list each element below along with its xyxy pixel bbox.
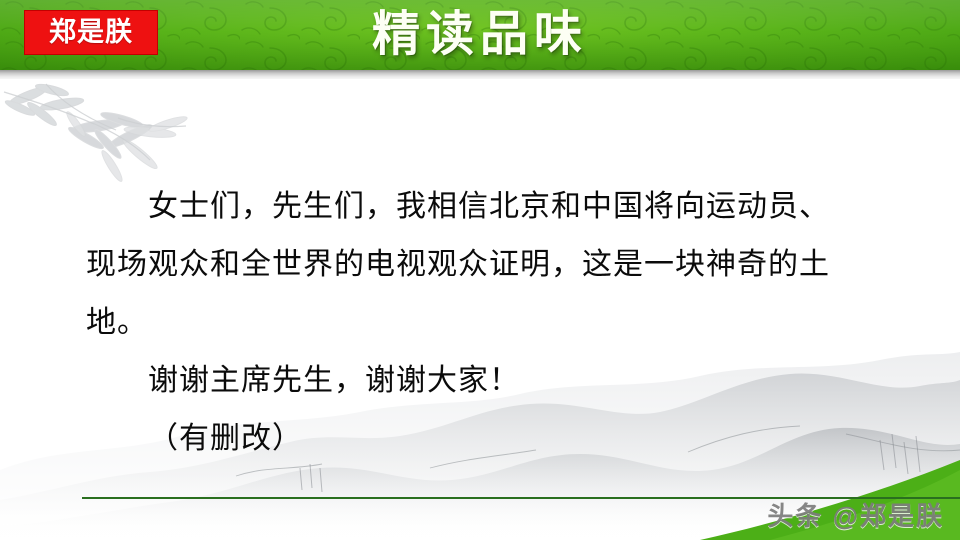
body-line-4: 谢谢主席先生，谢谢大家！	[86, 352, 886, 410]
body-line-3: 地。	[86, 294, 886, 352]
channel-watermark: 头条 @郑是朕	[767, 500, 944, 532]
body-line-2: 现场观众和全世界的电视观众证明，这是一块神奇的土	[86, 236, 886, 294]
body-line-1: 女士们，先生们，我相信北京和中国将向运动员、	[86, 178, 886, 236]
presentation-slide: 郑是朕 精读品味	[0, 0, 960, 540]
header-silver-divider	[0, 70, 960, 79]
body-line-5: （有删改）	[86, 410, 886, 468]
author-logo-text: 郑是朕	[49, 19, 133, 46]
content-divider-rule	[82, 497, 960, 499]
slide-body-text: 女士们，先生们，我相信北京和中国将向运动员、 现场观众和全世界的电视观众证明，这…	[86, 178, 886, 468]
author-logo-badge[interactable]: 郑是朕	[24, 10, 158, 55]
bamboo-leaves-ink-painting	[0, 74, 220, 189]
